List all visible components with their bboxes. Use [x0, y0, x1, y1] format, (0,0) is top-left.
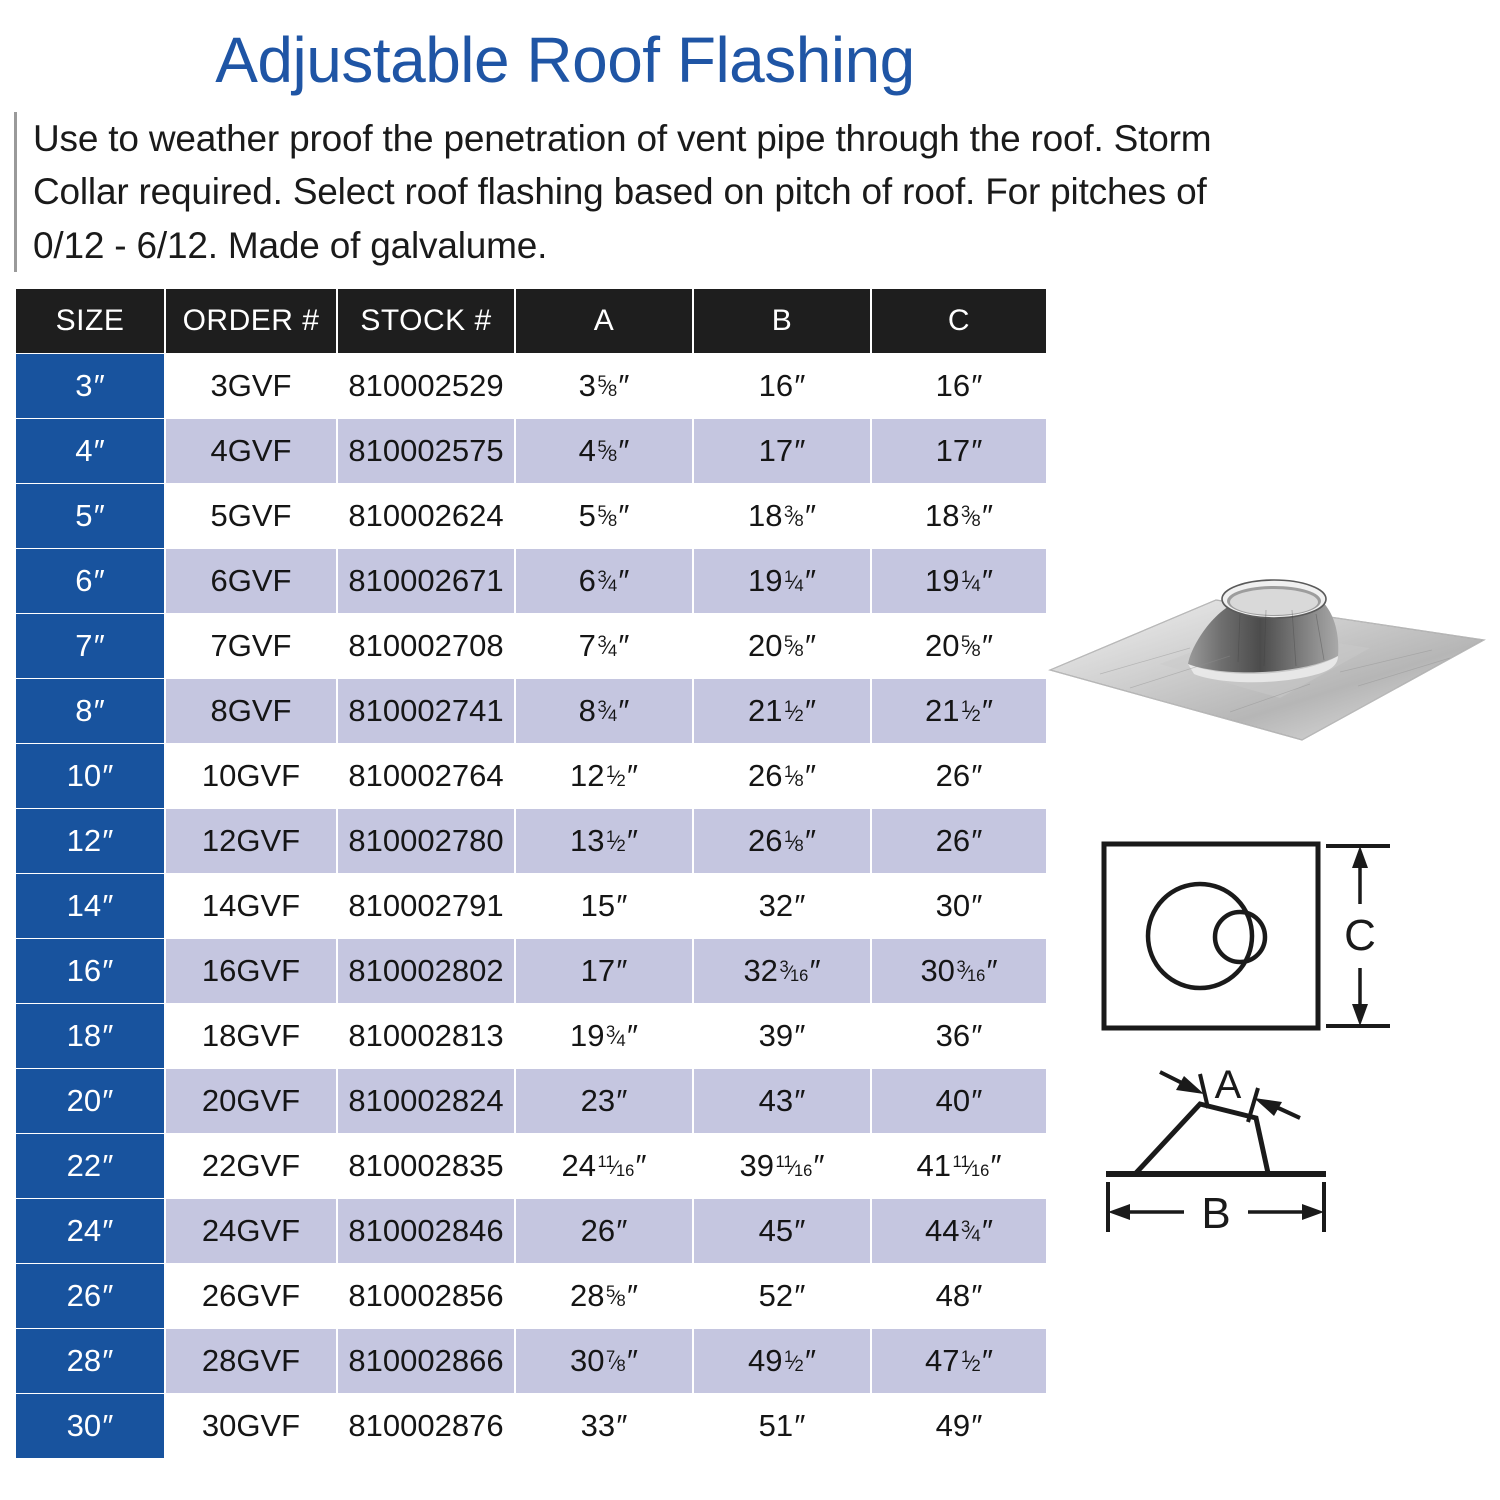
- table-row: 8″8GVF81000274183⁄4″211⁄2″211⁄2″: [16, 679, 1046, 743]
- cell-size: 6″: [16, 549, 164, 613]
- cell-stock: 810002824: [338, 1069, 514, 1133]
- cell-c: 211⁄2″: [872, 679, 1046, 743]
- cell-size: 4″: [16, 419, 164, 483]
- cell-size: 7″: [16, 614, 164, 678]
- cell-a: 73⁄4″: [516, 614, 692, 678]
- cell-c: 16″: [872, 354, 1046, 418]
- cell-size: 24″: [16, 1199, 164, 1263]
- cell-b: 211⁄2″: [694, 679, 870, 743]
- table-row: 28″28GVF810002866307⁄8″491⁄2″471⁄2″: [16, 1329, 1046, 1393]
- table-row: 20″20GVF81000282423″43″40″: [16, 1069, 1046, 1133]
- cell-a: 63⁄4″: [516, 549, 692, 613]
- cell-size: 8″: [16, 679, 164, 743]
- cell-order: 7GVF: [166, 614, 336, 678]
- cell-c: 48″: [872, 1264, 1046, 1328]
- cell-c: 36″: [872, 1004, 1046, 1068]
- cell-b: 3911⁄16″: [694, 1134, 870, 1198]
- table-row: 14″14GVF81000279115″32″30″: [16, 874, 1046, 938]
- dimension-label-b: B: [1201, 1189, 1230, 1238]
- cell-c: 26″: [872, 809, 1046, 873]
- cell-b: 39″: [694, 1004, 870, 1068]
- cell-order: 18GVF: [166, 1004, 336, 1068]
- column-header-size: SIZE: [16, 289, 164, 353]
- cell-order: 8GVF: [166, 679, 336, 743]
- cell-size: 30″: [16, 1394, 164, 1458]
- cell-stock: 810002708: [338, 614, 514, 678]
- cell-a: 2411⁄16″: [516, 1134, 692, 1198]
- cell-b: 45″: [694, 1199, 870, 1263]
- cell-order: 5GVF: [166, 484, 336, 548]
- cell-c: 26″: [872, 744, 1046, 808]
- cell-c: 183⁄8″: [872, 484, 1046, 548]
- cell-stock: 810002671: [338, 549, 514, 613]
- cell-size: 5″: [16, 484, 164, 548]
- cell-b: 205⁄8″: [694, 614, 870, 678]
- cell-size: 10″: [16, 744, 164, 808]
- plan-view-diagram: C: [1098, 836, 1398, 1036]
- cell-a: 45⁄8″: [516, 419, 692, 483]
- cell-stock: 810002802: [338, 939, 514, 1003]
- cell-stock: 810002764: [338, 744, 514, 808]
- cell-order: 14GVF: [166, 874, 336, 938]
- column-header-stock: STOCK #: [338, 289, 514, 353]
- cell-stock: 810002876: [338, 1394, 514, 1458]
- cell-order: 28GVF: [166, 1329, 336, 1393]
- table-row: 24″24GVF81000284626″45″443⁄4″: [16, 1199, 1046, 1263]
- cell-b: 52″: [694, 1264, 870, 1328]
- column-header-order: ORDER #: [166, 289, 336, 353]
- cell-a: 285⁄8″: [516, 1264, 692, 1328]
- cell-c: 40″: [872, 1069, 1046, 1133]
- cell-order: 26GVF: [166, 1264, 336, 1328]
- cell-size: 16″: [16, 939, 164, 1003]
- column-header-a: A: [516, 289, 692, 353]
- cell-b: 32″: [694, 874, 870, 938]
- cell-order: 12GVF: [166, 809, 336, 873]
- description-text: Use to weather proof the penetration of …: [33, 112, 1269, 272]
- cell-a: 131⁄2″: [516, 809, 692, 873]
- cell-b: 43″: [694, 1069, 870, 1133]
- cell-stock: 810002846: [338, 1199, 514, 1263]
- side-view-diagram: A B: [1088, 1060, 1408, 1255]
- cell-c: 303⁄16″: [872, 939, 1046, 1003]
- table-row: 30″30GVF81000287633″51″49″: [16, 1394, 1046, 1458]
- cell-b: 261⁄8″: [694, 744, 870, 808]
- dimension-label-a: A: [1215, 1063, 1242, 1107]
- cell-order: 22GVF: [166, 1134, 336, 1198]
- cell-stock: 810002856: [338, 1264, 514, 1328]
- cell-stock: 810002575: [338, 419, 514, 483]
- cell-stock: 810002741: [338, 679, 514, 743]
- cell-a: 33″: [516, 1394, 692, 1458]
- table-body: 3″3GVF81000252935⁄8″16″16″4″4GVF81000257…: [16, 354, 1046, 1458]
- cell-a: 193⁄4″: [516, 1004, 692, 1068]
- table-row: 7″7GVF81000270873⁄4″205⁄8″205⁄8″: [16, 614, 1046, 678]
- specifications-table: SIZE ORDER # STOCK # A B C 3″3GVF8100025…: [14, 288, 1048, 1459]
- cell-stock: 810002835: [338, 1134, 514, 1198]
- cell-c: 49″: [872, 1394, 1046, 1458]
- table-row: 12″12GVF810002780131⁄2″261⁄8″26″: [16, 809, 1046, 873]
- cell-c: 205⁄8″: [872, 614, 1046, 678]
- page-title: Adjustable Roof Flashing: [0, 28, 1130, 92]
- cell-b: 17″: [694, 419, 870, 483]
- cell-order: 3GVF: [166, 354, 336, 418]
- cell-order: 20GVF: [166, 1069, 336, 1133]
- cell-b: 191⁄4″: [694, 549, 870, 613]
- cell-size: 3″: [16, 354, 164, 418]
- cell-stock: 810002529: [338, 354, 514, 418]
- cell-order: 4GVF: [166, 419, 336, 483]
- column-header-b: B: [694, 289, 870, 353]
- cell-c: 443⁄4″: [872, 1199, 1046, 1263]
- cell-a: 23″: [516, 1069, 692, 1133]
- cell-size: 22″: [16, 1134, 164, 1198]
- cell-stock: 810002780: [338, 809, 514, 873]
- description-block: Use to weather proof the penetration of …: [14, 112, 1269, 272]
- cell-a: 307⁄8″: [516, 1329, 692, 1393]
- cell-stock: 810002866: [338, 1329, 514, 1393]
- cell-b: 261⁄8″: [694, 809, 870, 873]
- cell-stock: 810002813: [338, 1004, 514, 1068]
- cell-order: 30GVF: [166, 1394, 336, 1458]
- cell-b: 323⁄16″: [694, 939, 870, 1003]
- cell-c: 191⁄4″: [872, 549, 1046, 613]
- table-header-row: SIZE ORDER # STOCK # A B C: [16, 289, 1046, 353]
- cell-stock: 810002791: [338, 874, 514, 938]
- cell-c: 471⁄2″: [872, 1329, 1046, 1393]
- cell-a: 121⁄2″: [516, 744, 692, 808]
- cell-c: 30″: [872, 874, 1046, 938]
- dimension-label-c: C: [1344, 911, 1376, 960]
- cell-b: 183⁄8″: [694, 484, 870, 548]
- table-row: 26″26GVF810002856285⁄8″52″48″: [16, 1264, 1046, 1328]
- cell-a: 35⁄8″: [516, 354, 692, 418]
- cell-a: 17″: [516, 939, 692, 1003]
- table-row: 10″10GVF810002764121⁄2″261⁄8″26″: [16, 744, 1046, 808]
- table-row: 18″18GVF810002813193⁄4″39″36″: [16, 1004, 1046, 1068]
- product-photo: [1040, 552, 1490, 782]
- cell-a: 26″: [516, 1199, 692, 1263]
- cell-order: 6GVF: [166, 549, 336, 613]
- cell-c: 17″: [872, 419, 1046, 483]
- cell-order: 16GVF: [166, 939, 336, 1003]
- cell-b: 491⁄2″: [694, 1329, 870, 1393]
- cell-order: 24GVF: [166, 1199, 336, 1263]
- table-row: 5″5GVF81000262455⁄8″183⁄8″183⁄8″: [16, 484, 1046, 548]
- cell-a: 83⁄4″: [516, 679, 692, 743]
- cell-size: 18″: [16, 1004, 164, 1068]
- table-row: 22″22GVF8100028352411⁄16″3911⁄16″4111⁄16…: [16, 1134, 1046, 1198]
- table-row: 16″16GVF81000280217″323⁄16″303⁄16″: [16, 939, 1046, 1003]
- table-row: 3″3GVF81000252935⁄8″16″16″: [16, 354, 1046, 418]
- cell-b: 16″: [694, 354, 870, 418]
- table-row: 6″6GVF81000267163⁄4″191⁄4″191⁄4″: [16, 549, 1046, 613]
- cell-c: 4111⁄16″: [872, 1134, 1046, 1198]
- table-row: 4″4GVF81000257545⁄8″17″17″: [16, 419, 1046, 483]
- cell-size: 28″: [16, 1329, 164, 1393]
- cell-size: 14″: [16, 874, 164, 938]
- cell-order: 10GVF: [166, 744, 336, 808]
- cell-stock: 810002624: [338, 484, 514, 548]
- cell-size: 26″: [16, 1264, 164, 1328]
- cell-a: 15″: [516, 874, 692, 938]
- cell-size: 20″: [16, 1069, 164, 1133]
- cell-size: 12″: [16, 809, 164, 873]
- cell-a: 55⁄8″: [516, 484, 692, 548]
- column-header-c: C: [872, 289, 1046, 353]
- cell-b: 51″: [694, 1394, 870, 1458]
